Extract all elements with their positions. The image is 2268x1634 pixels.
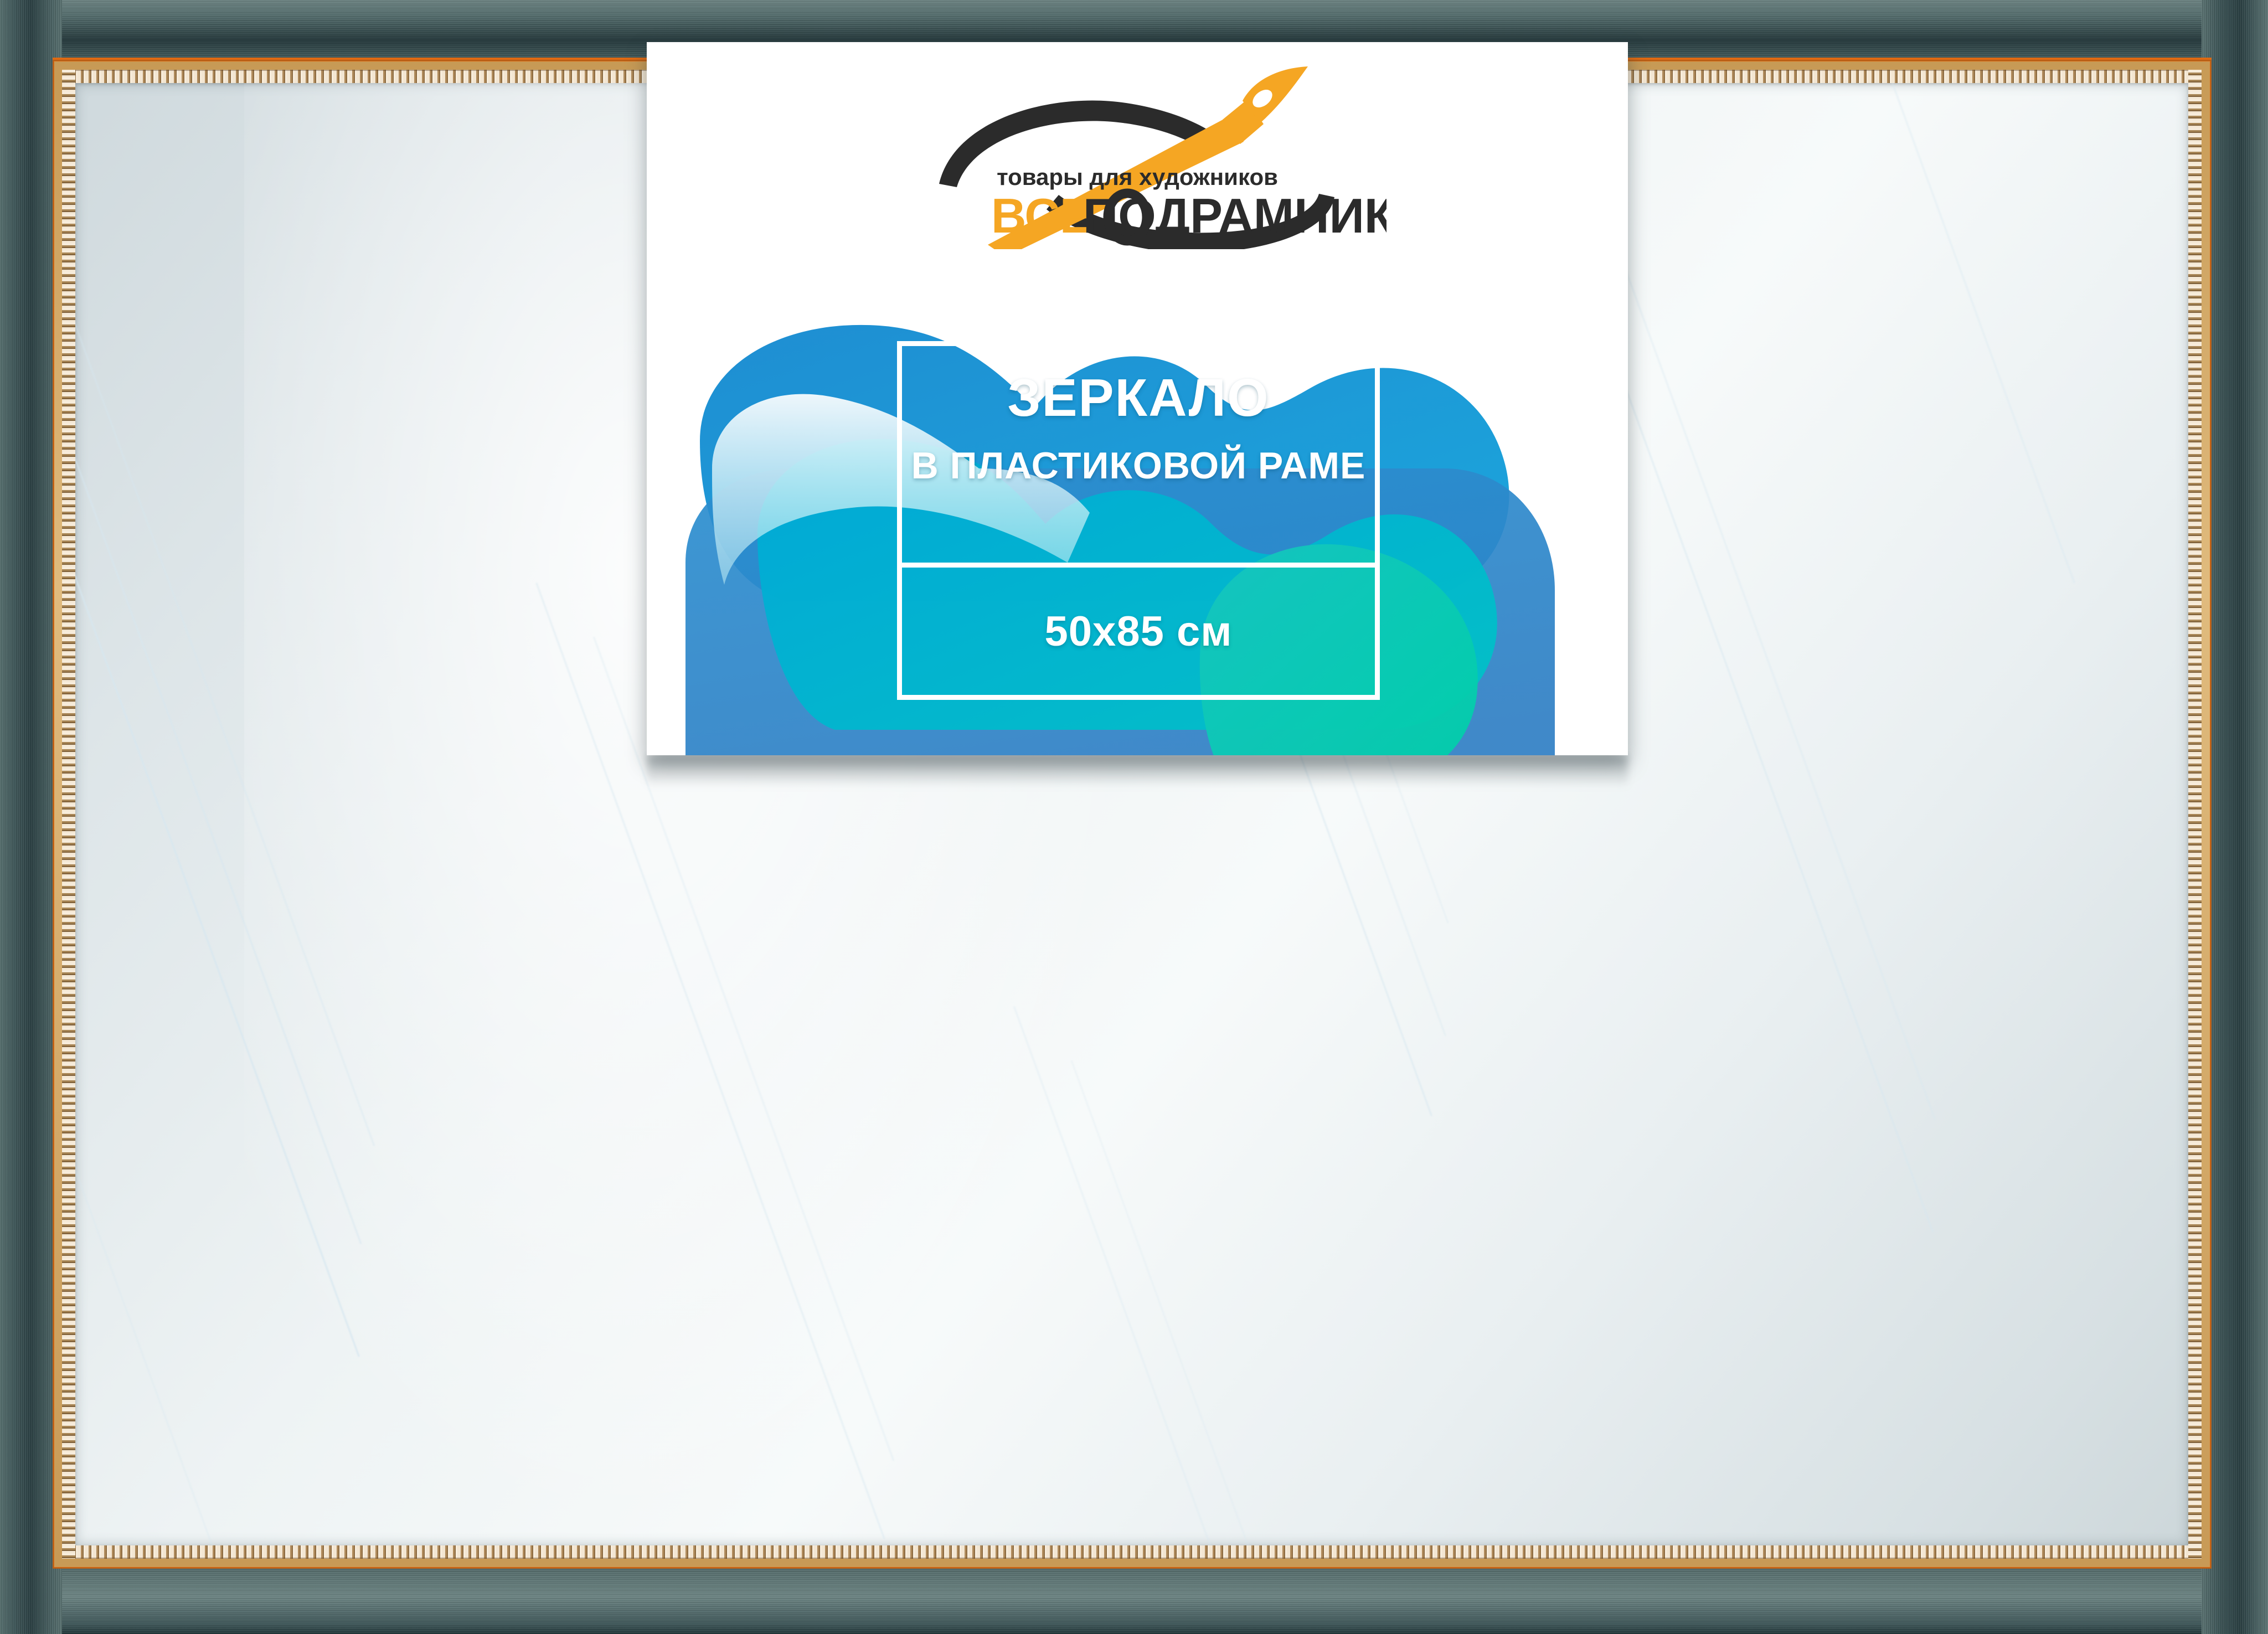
size-box: 50x85 см [897,563,1380,700]
beaded-molding-right [2188,70,2202,1559]
label-drop-shadow [647,755,1628,787]
subhead-text: В ПЛАСТИКОВОЙ РАМЕ [902,447,1375,484]
logo-name-part1: ВСЕ [991,188,1092,243]
product-photo: товары для художников ВСЕ ПОДРАМНИКИ [0,0,2268,1634]
headline-text: ЗЕРКАЛО [902,372,1375,425]
logo-tagline: товары для художников [997,164,1278,190]
promo-label: товары для художников ВСЕ ПОДРАМНИКИ [647,42,1628,755]
brand-logo: товары для художников ВСЕ ПОДРАМНИКИ [647,66,1628,266]
frame-right-molding [2202,0,2268,1634]
beaded-molding-left [62,70,75,1559]
size-text: 50x85 см [902,611,1375,653]
headline-box: ЗЕРКАЛО В ПЛАСТИКОВОЙ РАМЕ [897,341,1380,563]
wood-grain-texture [2202,0,2268,1634]
